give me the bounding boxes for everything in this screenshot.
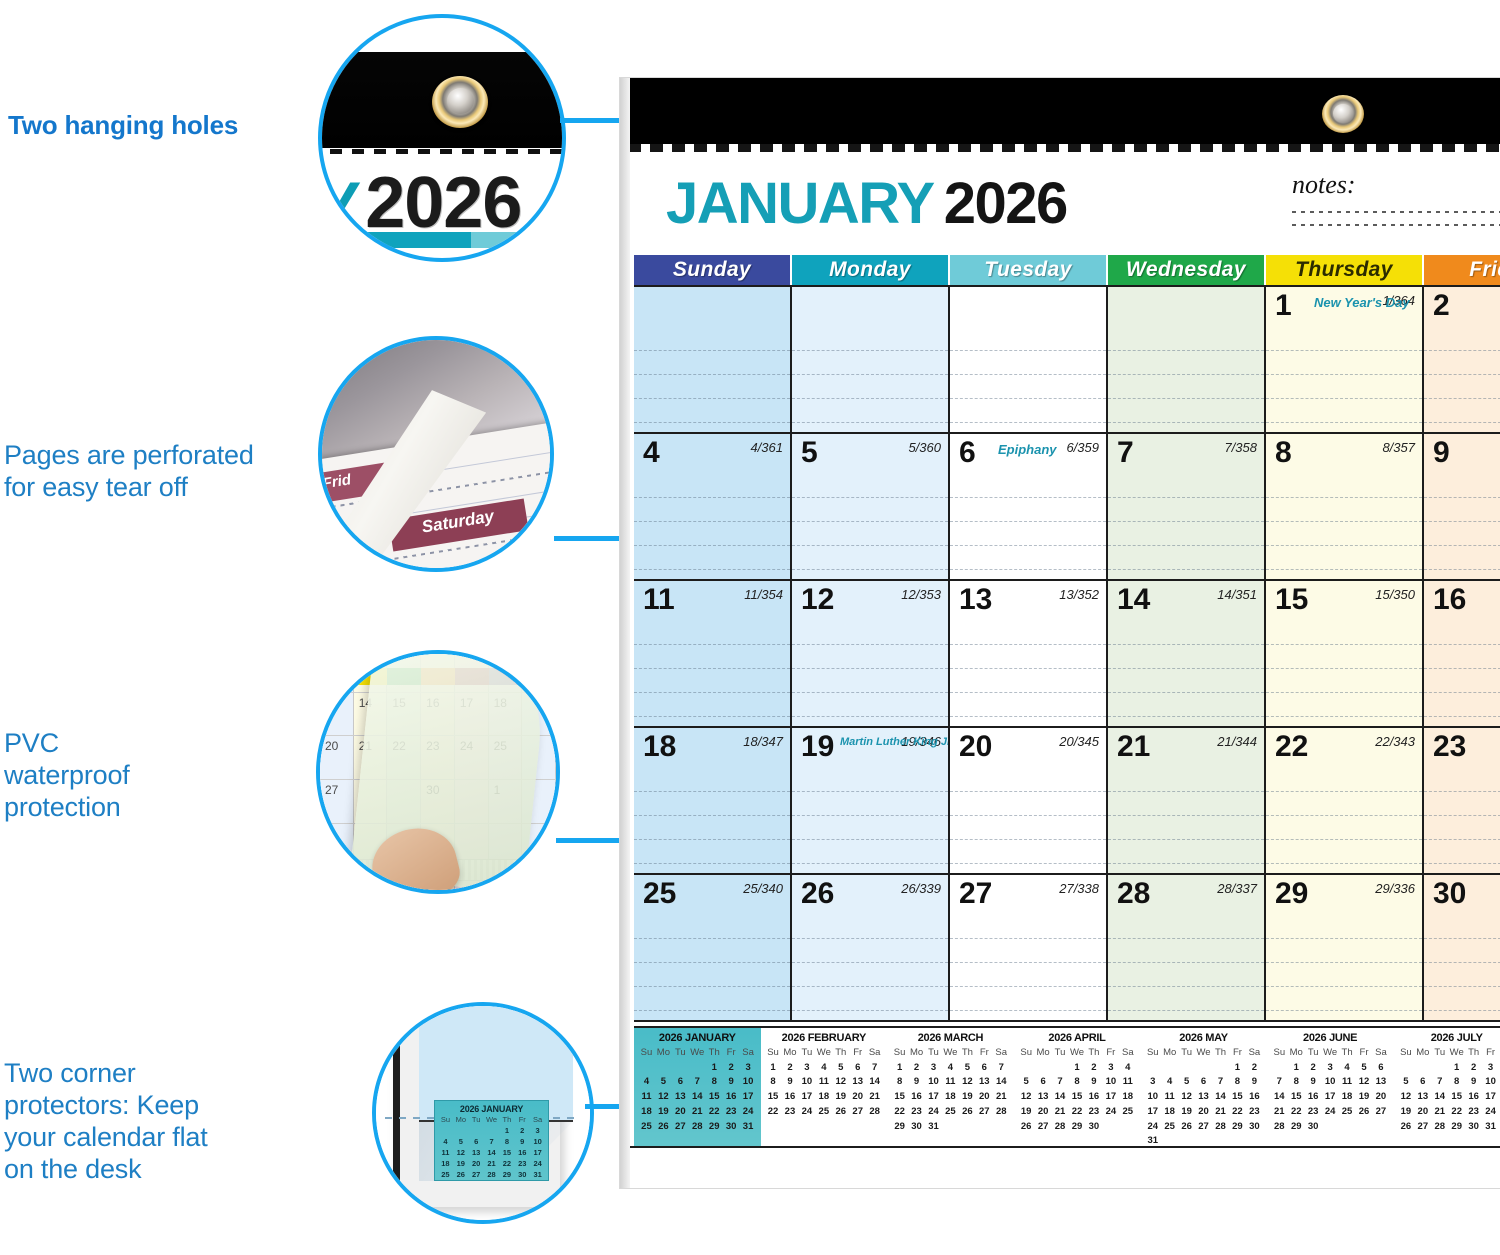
mini-empty-cell — [1431, 1061, 1448, 1076]
mini-day: 7 — [689, 1075, 706, 1090]
mini-day: 16 — [1305, 1090, 1322, 1105]
mini-day: 6 — [1414, 1075, 1431, 1090]
mini-weekday-label: We — [942, 1046, 959, 1061]
mini-weekday-label: Tu — [1052, 1046, 1069, 1061]
mini-day: 5 — [453, 1137, 468, 1148]
mini-day: 2 — [1305, 1061, 1322, 1076]
mini-calendar-strip: 2026 JANUARYSuMoTuWeThFrSa12345678910111… — [634, 1026, 1500, 1146]
mini-empty-cell — [1414, 1061, 1431, 1076]
calendar-day-cell[interactable]: 1212/353 — [792, 581, 950, 728]
writing-rules — [1266, 621, 1422, 726]
mini-day: 17 — [530, 1148, 545, 1159]
mini-day: 6 — [1035, 1075, 1052, 1090]
calendar-day-cell[interactable]: 2121/344 — [1108, 728, 1266, 875]
mini-day: 8 — [765, 1075, 782, 1090]
mini-day: 24 — [1144, 1120, 1161, 1135]
calendar-day-cell[interactable]: 88/357 — [1266, 434, 1424, 581]
writing-rules — [792, 327, 948, 432]
day-number: 25 — [643, 879, 676, 909]
mini-day: 15 — [1448, 1090, 1465, 1105]
mini-day: 26 — [655, 1120, 672, 1135]
mini-month-title: 2026 MARCH — [891, 1032, 1010, 1044]
mini-day: 10 — [740, 1075, 757, 1090]
mini-weekday-label: Th — [706, 1046, 723, 1061]
day-header-tuesday: Tuesday — [950, 255, 1108, 285]
mini-empty-cell — [453, 1126, 468, 1137]
mini-day: 14 — [993, 1075, 1010, 1090]
mini-empty-cell — [672, 1061, 689, 1076]
mini-day: 23 — [1246, 1105, 1263, 1120]
mini-month-title: 2026 JANUARY — [638, 1032, 757, 1044]
mini-weekday-label: Sa — [1372, 1046, 1389, 1061]
day-number: 15 — [1275, 585, 1308, 615]
mini-day: 9 — [1246, 1075, 1263, 1090]
mini-day: 4 — [1339, 1061, 1356, 1076]
mini-day: 19 — [453, 1159, 468, 1170]
mini-weekday-label: Th — [1339, 1046, 1356, 1061]
mini-day: 19 — [1178, 1105, 1195, 1120]
month-label: JANUARY — [666, 171, 934, 236]
mini-month-grid: SuMoTuWeThFrSa12345678910111213141516171… — [1397, 1046, 1500, 1134]
writing-rules — [1424, 768, 1500, 873]
wall-calendar: JANUARY2026 notes: SundayMondayTuesdayWe… — [620, 78, 1500, 1188]
day-header-sunday: Sunday — [634, 255, 792, 285]
mini-empty-cell — [484, 1126, 499, 1137]
mini-month-july[interactable]: 2026 JULYSuMoTuWeThFrSa12345678910111213… — [1393, 1028, 1500, 1149]
mini-day: 19 — [832, 1090, 849, 1105]
calendar-empty-cell[interactable] — [1108, 287, 1266, 434]
mini-weekday-label: Su — [1271, 1046, 1288, 1061]
mini-day: 14 — [866, 1075, 883, 1090]
mini-day: 2 — [1246, 1061, 1263, 1076]
calendar-day-cell[interactable]: 2929/336 — [1266, 875, 1424, 1022]
caption-perforated: Pages are perforated for easy tear off — [4, 440, 314, 504]
mini-day: 11 — [815, 1075, 832, 1090]
infographic-stage: Two hanging holes Pages are perforated f… — [0, 0, 1500, 1255]
mini-day: 10 — [1144, 1090, 1161, 1105]
mini-day: 22 — [765, 1105, 782, 1120]
notes-area[interactable]: notes: — [1292, 170, 1500, 248]
mini-weekday-label: Th — [1465, 1046, 1482, 1061]
mini-day: 9 — [1085, 1075, 1102, 1090]
calendar-day-cell[interactable]: 1313/352 — [950, 581, 1108, 728]
writing-rules — [950, 621, 1106, 726]
mini-day: 9 — [723, 1075, 740, 1090]
mini-day: 25 — [942, 1105, 959, 1120]
callout-photo-pvc: dnesday 13 14 15 16 17 18 20 21 22 23 24… — [316, 650, 560, 894]
mini-weekday-label: Mo — [1161, 1046, 1178, 1061]
mini-day: 2 — [908, 1061, 925, 1076]
callout-photo-hanging-holes: Y 2026 — [318, 14, 566, 262]
mini-day: 15 — [765, 1090, 782, 1105]
day-of-year-fraction: 15/350 — [1375, 587, 1415, 602]
mini-day: 29 — [1069, 1120, 1086, 1135]
mini-month-january[interactable]: 2026 JANUARYSuMoTuWeThFrSa12345678910111… — [634, 1028, 761, 1149]
day-of-week-header-row: SundayMondayTuesdayWednesdayThursdayFrid… — [634, 255, 1500, 285]
mini-day: 16 — [908, 1090, 925, 1105]
calendar-day-cell[interactable]: 99/356 — [1424, 434, 1500, 581]
mini-day: 3 — [925, 1061, 942, 1076]
mini-weekday-label: Su — [891, 1046, 908, 1061]
mini-day: 17 — [925, 1090, 942, 1105]
mini-day: 20 — [1035, 1105, 1052, 1120]
mini-day: 20 — [1195, 1105, 1212, 1120]
mini-day: 8 — [1288, 1075, 1305, 1090]
holiday-label: New Year's Day — [1314, 295, 1410, 310]
page-title: JANUARY2026 — [666, 170, 1067, 237]
mini-day: 15 — [706, 1090, 723, 1105]
mini-day: 18 — [815, 1090, 832, 1105]
mini-empty-cell — [1212, 1061, 1229, 1076]
grommet-icon — [432, 76, 488, 128]
mini-day: 30 — [1246, 1120, 1263, 1135]
calendar-day-cell[interactable]: 2020/345 — [950, 728, 1108, 875]
mini-weekday-label: Fr — [723, 1046, 740, 1061]
mini-day: 14 — [689, 1090, 706, 1105]
mini-day: 17 — [740, 1090, 757, 1105]
day-of-year-fraction: 27/338 — [1059, 881, 1099, 896]
mini-day: 21 — [1271, 1105, 1288, 1120]
writing-rules — [634, 768, 790, 873]
day-header-wednesday: Wednesday — [1108, 255, 1266, 285]
mini-day: 14 — [484, 1148, 499, 1159]
mini-day: 31 — [1482, 1120, 1499, 1135]
calendar-day-cell[interactable]: 22/363 — [1424, 287, 1500, 434]
mini-weekday-label: Sa — [1246, 1046, 1263, 1061]
writing-rules — [950, 915, 1106, 1020]
mini-weekday-label: Th — [499, 1115, 514, 1126]
mini-day: 30 — [908, 1120, 925, 1135]
calendar-black-header — [628, 78, 1500, 144]
mini-day: 6 — [468, 1137, 483, 1148]
mini-day: 13 — [672, 1090, 689, 1105]
calendar-day-cell[interactable]: 66/359Epiphany — [950, 434, 1108, 581]
mini-month-march[interactable]: 2026 MARCHSuMoTuWeThFrSa1234567891011121… — [887, 1028, 1014, 1149]
calendar-empty-cell[interactable] — [950, 287, 1108, 434]
mini-day: 24 — [925, 1105, 942, 1120]
mini-month-title: 2026 JULY — [1397, 1032, 1500, 1044]
mini-day: 18 — [638, 1105, 655, 1120]
calendar-day-cell[interactable]: 1515/350 — [1266, 581, 1424, 728]
calendar-day-cell[interactable]: 3030/335 — [1424, 875, 1500, 1022]
mini-day: 16 — [1465, 1090, 1482, 1105]
writing-rules — [1108, 768, 1264, 873]
day-number: 18 — [643, 732, 676, 762]
mini-day: 14 — [1271, 1090, 1288, 1105]
calendar-day-cell[interactable]: 1919/346Martin Luther King Jr. Day — [792, 728, 950, 875]
calendar-day-cell[interactable]: 1616/349 — [1424, 581, 1500, 728]
day-number: 28 — [1117, 879, 1150, 909]
mini-weekday-label: Fr — [515, 1115, 530, 1126]
day-of-year-fraction: 8/357 — [1382, 440, 1415, 455]
calendar-day-cell[interactable]: 1818/347 — [634, 728, 792, 875]
mini-day: 3 — [740, 1061, 757, 1076]
callout-photo-perforated: Frid Saturday 7 38/327 — [318, 336, 554, 572]
mini-day: 3 — [1482, 1061, 1499, 1076]
mini-day: 1 — [1448, 1061, 1465, 1076]
mini-day: 25 — [438, 1170, 453, 1181]
mini-weekday-label: Th — [1085, 1046, 1102, 1061]
mini-day: 13 — [1414, 1090, 1431, 1105]
mini-day: 26 — [1397, 1120, 1414, 1135]
mini-day: 12 — [832, 1075, 849, 1090]
mini-day: 30 — [1465, 1120, 1482, 1135]
mini-day: 28 — [1212, 1120, 1229, 1135]
calendar-day-cell[interactable]: 11/364New Year's Day — [1266, 287, 1424, 434]
writing-rules — [1108, 327, 1264, 432]
mini-day: 10 — [1482, 1075, 1499, 1090]
mini-day: 19 — [655, 1105, 672, 1120]
day-of-year-fraction: 6/359 — [1066, 440, 1099, 455]
mini-day: 1 — [765, 1061, 782, 1076]
mini-weekday-label: Sa — [993, 1046, 1010, 1061]
mini-day: 8 — [499, 1137, 514, 1148]
mini-day: 27 — [1195, 1120, 1212, 1135]
mini-day: 6 — [672, 1075, 689, 1090]
mini-day: 26 — [1356, 1105, 1373, 1120]
mini-day: 19 — [1397, 1105, 1414, 1120]
day-of-year-fraction: 28/337 — [1217, 881, 1257, 896]
mini-day: 24 — [1322, 1105, 1339, 1120]
mini-day: 23 — [515, 1159, 530, 1170]
writing-rules — [1424, 327, 1500, 432]
day-number: 13 — [959, 585, 992, 615]
mini-day: 13 — [1372, 1075, 1389, 1090]
mini-day: 13 — [1035, 1090, 1052, 1105]
mini-month-april[interactable]: 2026 APRILSuMoTuWeThFrSa1234567891011121… — [1014, 1028, 1141, 1149]
mini-weekday-label: Mo — [782, 1046, 799, 1061]
mini-empty-cell — [1195, 1061, 1212, 1076]
mini-weekday-label: Fr — [849, 1046, 866, 1061]
calendar-day-cell[interactable]: 2828/337 — [1108, 875, 1266, 1022]
mini-day: 28 — [484, 1170, 499, 1181]
header-wednesday: dnesday — [320, 668, 354, 685]
day-number: 16 — [1433, 585, 1466, 615]
mini-day: 22 — [1288, 1105, 1305, 1120]
mini-day: 12 — [1018, 1090, 1035, 1105]
mini-day: 12 — [655, 1090, 672, 1105]
mini-day: 11 — [438, 1148, 453, 1159]
mini-day: 6 — [976, 1061, 993, 1076]
day-number: 14 — [1117, 585, 1150, 615]
mini-day: 14 — [1212, 1090, 1229, 1105]
mini-day: 30 — [1305, 1120, 1322, 1135]
mini-day: 18 — [1161, 1105, 1178, 1120]
mini-weekday-label: Mo — [908, 1046, 925, 1061]
calendar-day-cell[interactable]: 55/360 — [792, 434, 950, 581]
mini-day: 9 — [908, 1075, 925, 1090]
mini-day: 15 — [1288, 1090, 1305, 1105]
mini-day: 21 — [866, 1090, 883, 1105]
mini-day: 25 — [1339, 1105, 1356, 1120]
mini-weekday-label: Tu — [1305, 1046, 1322, 1061]
mini-day: 20 — [468, 1159, 483, 1170]
writing-rules — [634, 621, 790, 726]
day-of-year-fraction: 22/343 — [1375, 734, 1415, 749]
mini-empty-cell — [1178, 1061, 1195, 1076]
mini-day: 17 — [798, 1090, 815, 1105]
writing-rules — [1266, 768, 1422, 873]
mini-day: 14 — [1052, 1090, 1069, 1105]
writing-rules — [1108, 621, 1264, 726]
calendar-day-cell[interactable]: 44/361 — [634, 434, 792, 581]
mini-day: 25 — [815, 1105, 832, 1120]
day-of-year-fraction: 4/361 — [750, 440, 783, 455]
mini-day: 17 — [1322, 1090, 1339, 1105]
calendar-day-cell[interactable]: 2626/339 — [792, 875, 950, 1022]
day-number: 29 — [1275, 879, 1308, 909]
mini-weekday-label: Fr — [1102, 1046, 1119, 1061]
mini-day: 29 — [1448, 1120, 1465, 1135]
mini-month-grid: SuMoTuWeThFrSa12345678910111213141516171… — [765, 1046, 884, 1120]
mini-empty-cell — [1161, 1061, 1178, 1076]
mini-month-title: 2026 MAY — [1144, 1032, 1263, 1044]
mini-day: 24 — [798, 1105, 815, 1120]
mini-month-grid: SuMoTuWeThFrSa12345678910111213141516171… — [1144, 1046, 1263, 1149]
mini-month-grid: SuMoTuWeThFrSa12345678910111213141516171… — [1018, 1046, 1137, 1134]
mini-empty-cell — [1035, 1061, 1052, 1076]
mini-day: 5 — [655, 1075, 672, 1090]
mini-day: 18 — [1339, 1090, 1356, 1105]
mini-day: 1 — [891, 1061, 908, 1076]
mini-weekday-label: Su — [638, 1046, 655, 1061]
mini-day: 29 — [499, 1170, 514, 1181]
calendar-day-cell[interactable]: 2323/342 — [1424, 728, 1500, 875]
calendar-day-cell[interactable]: 2222/343 — [1266, 728, 1424, 875]
day-of-year-fraction: 11/354 — [744, 587, 783, 602]
holiday-label: Epiphany — [998, 442, 1057, 457]
writing-rules — [1424, 621, 1500, 726]
mini-day: 21 — [1052, 1105, 1069, 1120]
notes-label: notes: — [1292, 170, 1500, 200]
calendar-day-cell[interactable]: 1414/351 — [1108, 581, 1266, 728]
mini-month-may[interactable]: 2026 MAYSuMoTuWeThFrSa123456789101112131… — [1140, 1028, 1267, 1149]
mini-day: 1 — [706, 1061, 723, 1076]
mini-day: 4 — [638, 1075, 655, 1090]
mini-weekday-label: Tu — [798, 1046, 815, 1061]
calendar-day-cell[interactable]: 77/358 — [1108, 434, 1266, 581]
mini-day: 7 — [866, 1061, 883, 1076]
mini-empty-cell — [655, 1061, 672, 1076]
day-number: 6 — [959, 438, 976, 468]
calendar-empty-cell[interactable] — [792, 287, 950, 434]
day-number: 23 — [1433, 732, 1466, 762]
mini-day: 6 — [849, 1061, 866, 1076]
mini-day: 4 — [438, 1137, 453, 1148]
calendar-day-cell[interactable]: 1111/354 — [634, 581, 792, 728]
mini-day: 6 — [1195, 1075, 1212, 1090]
calendar-day-cell[interactable]: 2525/340 — [634, 875, 792, 1022]
mini-empty-cell — [438, 1126, 453, 1137]
calendar-empty-cell[interactable] — [634, 287, 792, 434]
mini-day: 31 — [925, 1120, 942, 1135]
mini-day: 25 — [638, 1120, 655, 1135]
day-of-year-fraction: 18/347 — [743, 734, 783, 749]
mini-day: 8 — [706, 1075, 723, 1090]
mini-weekday-label: Tu — [468, 1115, 483, 1126]
notes-rule — [1292, 211, 1500, 213]
mini-day: 6 — [1372, 1061, 1389, 1076]
mini-day: 22 — [1229, 1105, 1246, 1120]
mini-day: 13 — [1195, 1090, 1212, 1105]
mini-day: 9 — [782, 1075, 799, 1090]
mini-day: 29 — [1229, 1120, 1246, 1135]
mini-day: 25 — [1119, 1105, 1136, 1120]
mini-weekday-label: Fr — [1356, 1046, 1373, 1061]
writing-rules — [1108, 474, 1264, 579]
day-number: 4 — [643, 438, 660, 468]
mini-day: 11 — [1161, 1090, 1178, 1105]
mini-day: 22 — [1069, 1105, 1086, 1120]
mini-day: 21 — [1431, 1105, 1448, 1120]
mini-weekday-label: We — [1195, 1046, 1212, 1061]
calendar-day-cell[interactable]: 2727/338 — [950, 875, 1108, 1022]
mini-weekday-label: Tu — [1178, 1046, 1195, 1061]
mini-day: 10 — [1322, 1075, 1339, 1090]
mini-day: 15 — [1229, 1090, 1246, 1105]
mini-day: 2 — [723, 1061, 740, 1076]
mini-day: 18 — [438, 1159, 453, 1170]
mini-weekday-label: Su — [765, 1046, 782, 1061]
mini-day: 29 — [891, 1120, 908, 1135]
mini-day: 17 — [1144, 1105, 1161, 1120]
writing-rules — [1266, 474, 1422, 579]
day-of-year-fraction: 21/344 — [1217, 734, 1257, 749]
mini-weekday-label: We — [689, 1046, 706, 1061]
mini-day: 13 — [468, 1148, 483, 1159]
caption-corner-protectors: Two corner protectors: Keep your calenda… — [4, 1058, 304, 1185]
day-of-year-fraction: 26/339 — [901, 881, 941, 896]
mini-day: 27 — [1414, 1120, 1431, 1135]
mini-weekday-label: Th — [832, 1046, 849, 1061]
writing-rules — [634, 474, 790, 579]
mini-day: 27 — [1035, 1120, 1052, 1135]
day-number: 7 — [1117, 438, 1134, 468]
calendar-bottom-bar — [628, 1146, 1500, 1188]
holiday-label: Martin Luther King Jr. Day — [840, 736, 950, 748]
mini-month-february[interactable]: 2026 FEBRUARYSuMoTuWeThFrSa1234567891011… — [761, 1028, 888, 1149]
day-of-year-fraction: 13/352 — [1059, 587, 1099, 602]
mini-day: 19 — [1018, 1105, 1035, 1120]
mini-weekday-label: Su — [1397, 1046, 1414, 1061]
mini-day: 1 — [1229, 1061, 1246, 1076]
mini-weekday-label: We — [1069, 1046, 1086, 1061]
mini-day: 4 — [942, 1061, 959, 1076]
day-number: 30 — [1433, 879, 1466, 909]
mini-day: 5 — [1018, 1075, 1035, 1090]
mini-day: 19 — [1356, 1090, 1373, 1105]
calendar-spine — [620, 78, 630, 1188]
day-number: 12 — [801, 585, 834, 615]
mini-day: 1 — [1069, 1061, 1086, 1076]
mini-day: 15 — [891, 1090, 908, 1105]
writing-rules — [792, 915, 948, 1020]
mini-weekday-label: Fr — [976, 1046, 993, 1061]
day-number: 19 — [801, 732, 834, 762]
mini-day: 20 — [976, 1090, 993, 1105]
mini-day: 12 — [959, 1075, 976, 1090]
mini-day: 11 — [942, 1075, 959, 1090]
day-of-year-fraction: 29/336 — [1375, 881, 1415, 896]
mini-weekday-label: Tu — [672, 1046, 689, 1061]
mini-day: 27 — [976, 1105, 993, 1120]
mini-weekday-label: We — [484, 1115, 499, 1126]
mini-day: 26 — [453, 1170, 468, 1181]
mini-day: 28 — [1271, 1120, 1288, 1135]
mini-month-june[interactable]: 2026 JUNESuMoTuWeThFrSa12345678910111213… — [1267, 1028, 1394, 1149]
mini-day: 18 — [942, 1090, 959, 1105]
mini-day: 23 — [1305, 1105, 1322, 1120]
